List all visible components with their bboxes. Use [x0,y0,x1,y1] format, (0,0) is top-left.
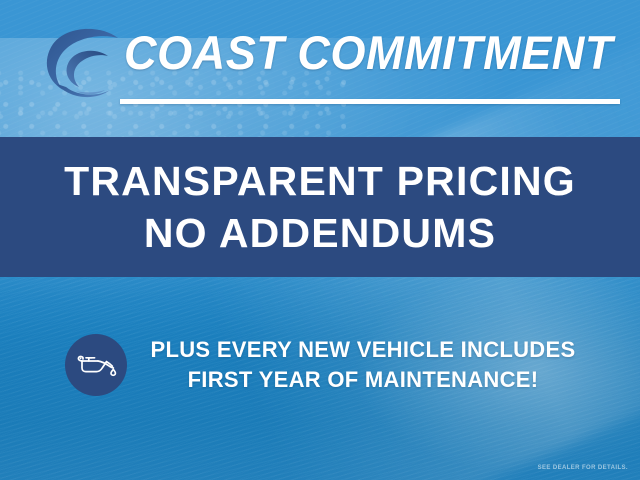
headline-line-1: TRANSPARENT PRICING [64,155,576,207]
headline-band: TRANSPARENT PRICING NO ADDENDUMS [0,137,640,277]
promo-line-2: FIRST YEAR OF MAINTENANCE! [151,365,576,395]
oil-can-icon [75,348,117,383]
promo-row: PLUS EVERY NEW VEHICLE INCLUDES FIRST YE… [0,320,640,410]
header: COAST COMMITMENT [0,0,640,137]
brand-title: COAST COMMITMENT [124,24,604,82]
header-divider [120,99,620,104]
oil-can-badge [65,334,127,396]
promo-line-1: PLUS EVERY NEW VEHICLE INCLUDES [151,335,576,365]
disclaimer-text: SEE DEALER FOR DETAILS. [538,465,628,471]
coast-commitment-ad: COAST COMMITMENT TRANSPARENT PRICING NO … [0,0,640,480]
wave-swirl-logo-icon [36,22,134,108]
promo-text: PLUS EVERY NEW VEHICLE INCLUDES FIRST YE… [151,335,576,395]
headline-line-2: NO ADDENDUMS [144,207,496,259]
